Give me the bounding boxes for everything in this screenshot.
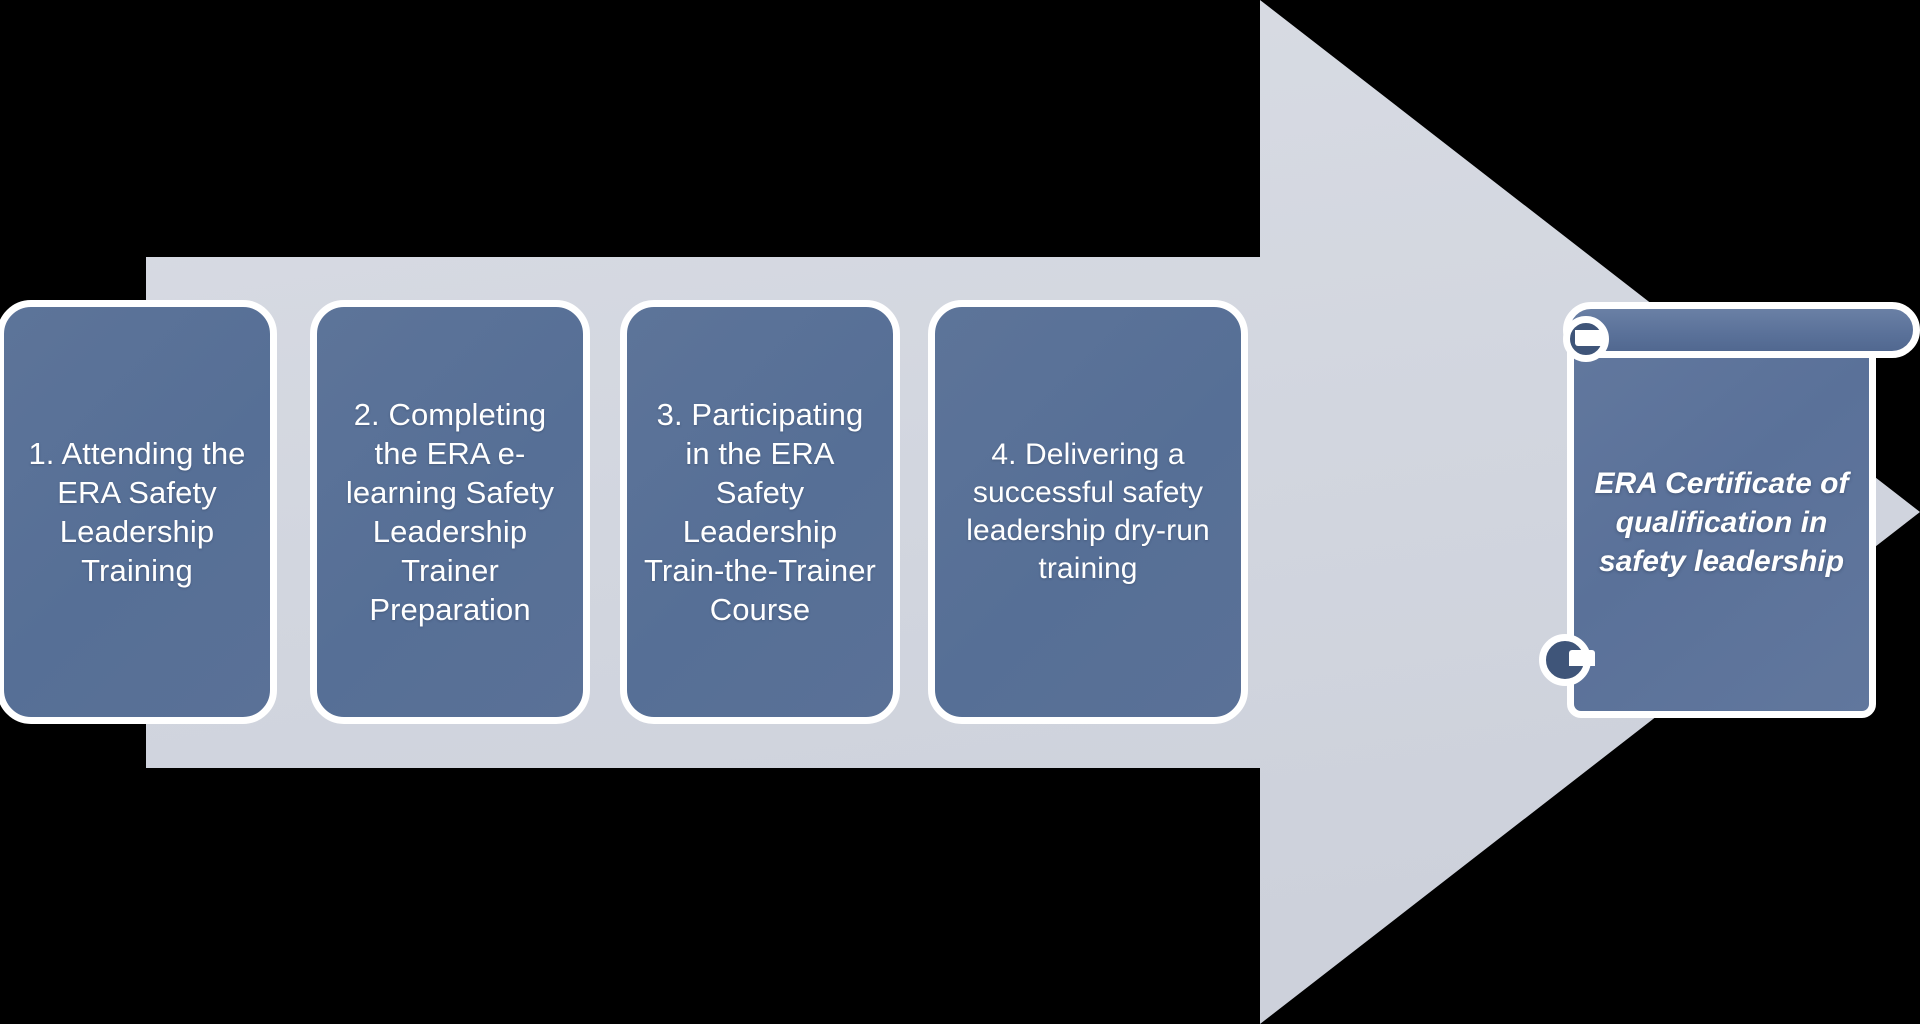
certificate-label: ERA Certificate of qualification in safe…: [1574, 464, 1869, 581]
step-1-label: 1. Attending the ERA Safety Leadership T…: [18, 434, 256, 590]
step-box-2[interactable]: 2. Completing the ERA e-learning Safety …: [310, 300, 590, 724]
step-box-3[interactable]: 3. Participating in the ERA Safety Leade…: [620, 300, 900, 724]
step-3-label: 3. Participating in the ERA Safety Leade…: [641, 395, 879, 629]
step-2-label: 2. Completing the ERA e-learning Safety …: [331, 395, 569, 629]
certificate-scroll[interactable]: ERA Certificate of qualification in safe…: [1555, 300, 1920, 720]
diagram-canvas: 1. Attending the ERA Safety Leadership T…: [0, 0, 1920, 1024]
scroll-curl-top-detail-icon: [1575, 330, 1605, 346]
scroll-roll-top-icon: [1563, 302, 1920, 358]
certificate-body: ERA Certificate of qualification in safe…: [1567, 326, 1876, 718]
step-box-1[interactable]: 1. Attending the ERA Safety Leadership T…: [0, 300, 277, 724]
step-box-4[interactable]: 4. Delivering a successful safety leader…: [928, 300, 1248, 724]
scroll-curl-bottom-detail-icon: [1569, 650, 1595, 666]
step-4-label: 4. Delivering a successful safety leader…: [949, 436, 1227, 587]
